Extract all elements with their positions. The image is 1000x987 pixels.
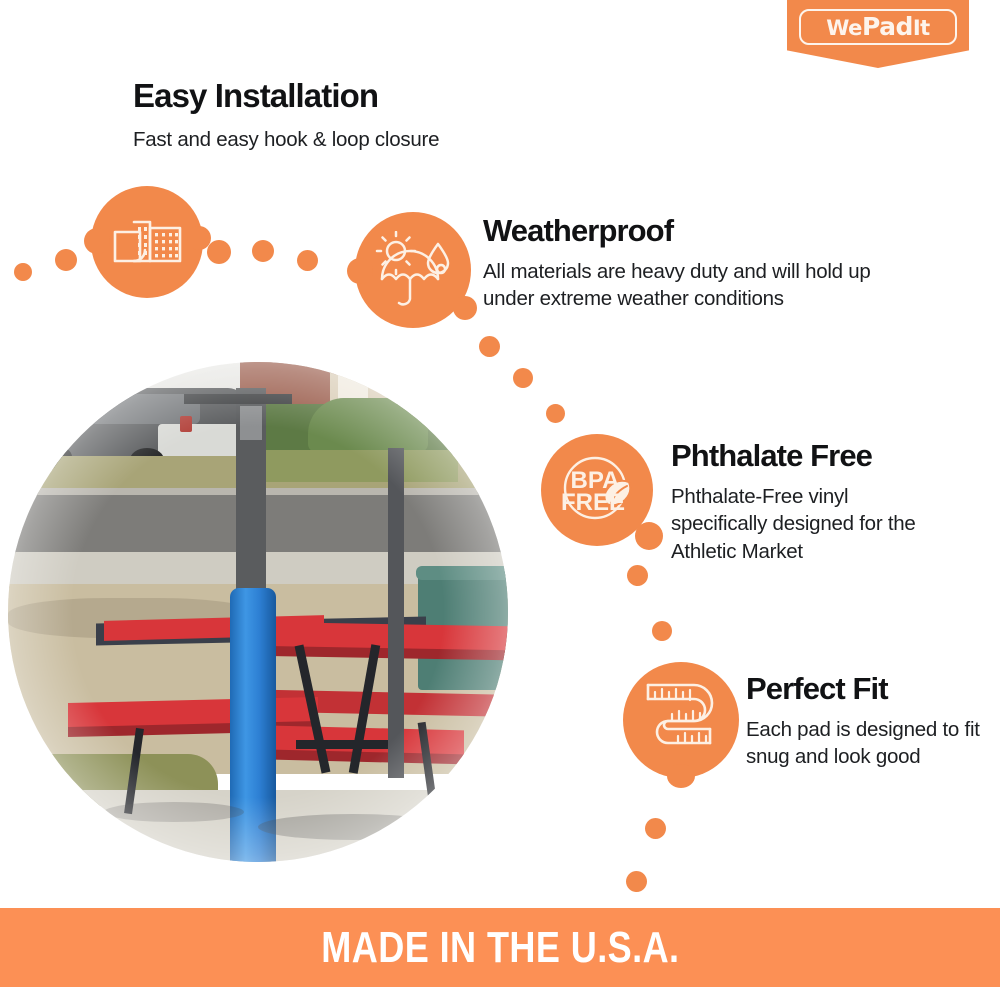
logo-word-pad: Pad	[862, 12, 913, 41]
trail-dot	[479, 336, 500, 357]
photo-vehicle-taillight	[180, 416, 192, 432]
icon-blob	[667, 764, 695, 788]
feature-icon-weatherproof	[355, 212, 471, 328]
photo-vehicle-window	[50, 394, 200, 424]
trail-dot	[645, 818, 666, 839]
trail-dot	[297, 250, 318, 271]
trail-dot	[207, 240, 231, 264]
trail-dot	[627, 565, 648, 586]
icon-blob	[187, 226, 211, 250]
measuring-tape-icon	[638, 677, 724, 763]
sun-umbrella-raindrop-icon	[372, 231, 454, 309]
photo-hedge	[308, 398, 428, 452]
feature-title-weatherproof: Weatherproof	[483, 215, 673, 248]
feature-description-weatherproof: All materials are heavy duty and will ho…	[483, 258, 913, 313]
feature-title-perfect-fit: Perfect Fit	[746, 673, 888, 706]
photo-shadow	[258, 814, 448, 840]
made-in-usa-label: MADE IN THE U.S.A.	[321, 923, 679, 973]
infographic-page: WePadIt Easy Installation Fast and easy …	[0, 0, 1000, 987]
brand-logo: WePadIt	[787, 0, 969, 68]
logo-outline-box: WePadIt	[799, 9, 957, 45]
photo-grass-patch	[258, 450, 458, 482]
icon-blob	[453, 296, 477, 320]
feature-title-phthalate-free: Phthalate Free	[671, 440, 872, 473]
photo-barrel-rim	[416, 566, 508, 580]
feature-description-phthalate-free: Phthalate-Free vinyl specifically design…	[671, 483, 941, 565]
trail-dot	[626, 871, 647, 892]
photo-shadow	[104, 802, 244, 822]
photo-vehicle-bumper	[158, 424, 246, 460]
feature-description-perfect-fit: Each pad is designed to fit snug and loo…	[746, 716, 981, 771]
photo-scene	[8, 362, 508, 862]
icon-blob	[84, 228, 110, 254]
trail-dot	[55, 249, 77, 271]
feature-icon-perfect-fit	[623, 662, 739, 778]
feature-icon-phthalate-free: BPA FREE	[541, 434, 653, 546]
photo-table-brace	[296, 740, 394, 749]
trail-dot	[513, 368, 533, 388]
photo-pole-fitting	[240, 406, 262, 440]
made-in-usa-banner: MADE IN THE U.S.A.	[0, 908, 1000, 987]
logo-word-we: We	[826, 16, 862, 40]
trail-dot	[652, 621, 672, 641]
trail-dot	[14, 263, 32, 281]
bpa-free-leaf-icon: BPA FREE	[549, 442, 645, 538]
velcro-strap-icon	[110, 212, 184, 272]
feature-description-easy-installation: Fast and easy hook & loop closure	[133, 126, 553, 153]
feature-title-easy-installation: Easy Installation	[133, 79, 378, 114]
icon-blob	[347, 258, 373, 284]
product-photo	[8, 362, 508, 862]
feature-icon-easy-installation	[91, 186, 203, 298]
photo-pole-secondary	[388, 448, 404, 778]
trail-dot	[252, 240, 274, 262]
photo-pole-crossarm	[184, 394, 292, 404]
free-label: FREE	[561, 489, 625, 516]
logo-wordmark: WePadIt	[826, 14, 929, 40]
logo-word-it: It	[913, 16, 930, 40]
trail-dot	[546, 404, 565, 423]
